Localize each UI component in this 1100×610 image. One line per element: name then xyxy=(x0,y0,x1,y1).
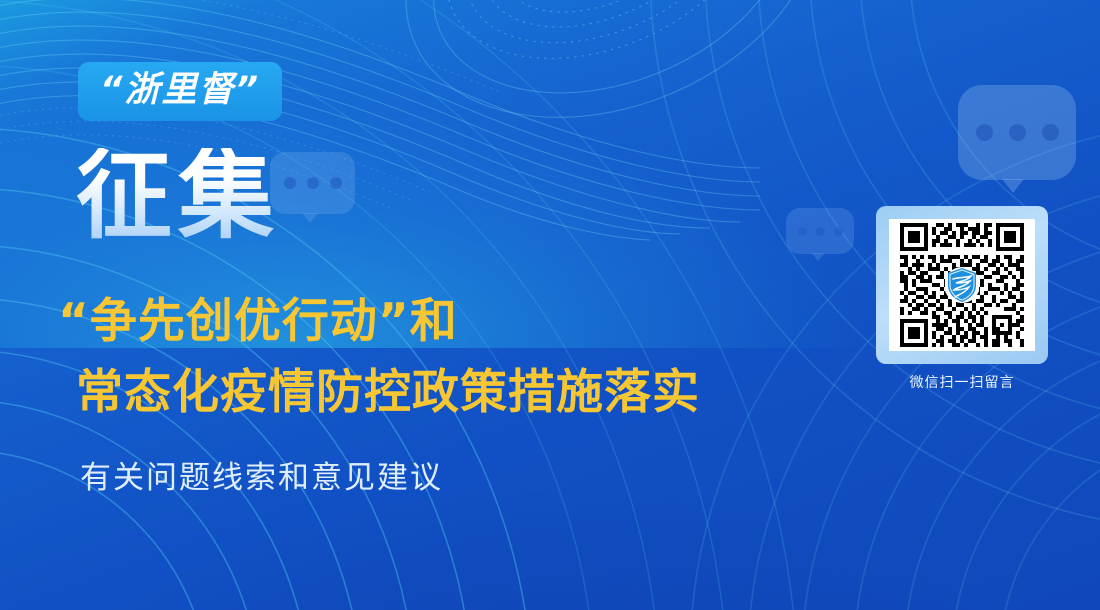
page-title: 征集 xyxy=(76,148,280,244)
speech-bubble-icon-large xyxy=(958,85,1076,180)
banner-content: “浙里督” 征集 “争先创优行动”和 常态化疫情防控政策措施落实 有关问题线索和… xyxy=(0,0,860,610)
qr-card[interactable] xyxy=(876,206,1048,364)
qr-code-icon[interactable] xyxy=(889,219,1035,351)
program-badge: “浙里督” xyxy=(78,62,282,121)
headline-block: “争先创优行动”和 常态化疫情防控政策措施落实 xyxy=(58,286,858,429)
subtitle: 有关问题线索和意见建议 xyxy=(80,452,443,497)
promo-banner: “浙里督” 征集 “争先创优行动”和 常态化疫情防控政策措施落实 有关问题线索和… xyxy=(0,0,1100,610)
headline-line-1: “争先创优行动”和 xyxy=(58,286,858,357)
headline-line-2: 常态化疫情防控政策措施落实 xyxy=(76,357,858,428)
shield-logo-icon xyxy=(945,266,979,304)
qr-caption: 微信扫一扫留言 xyxy=(876,372,1048,392)
